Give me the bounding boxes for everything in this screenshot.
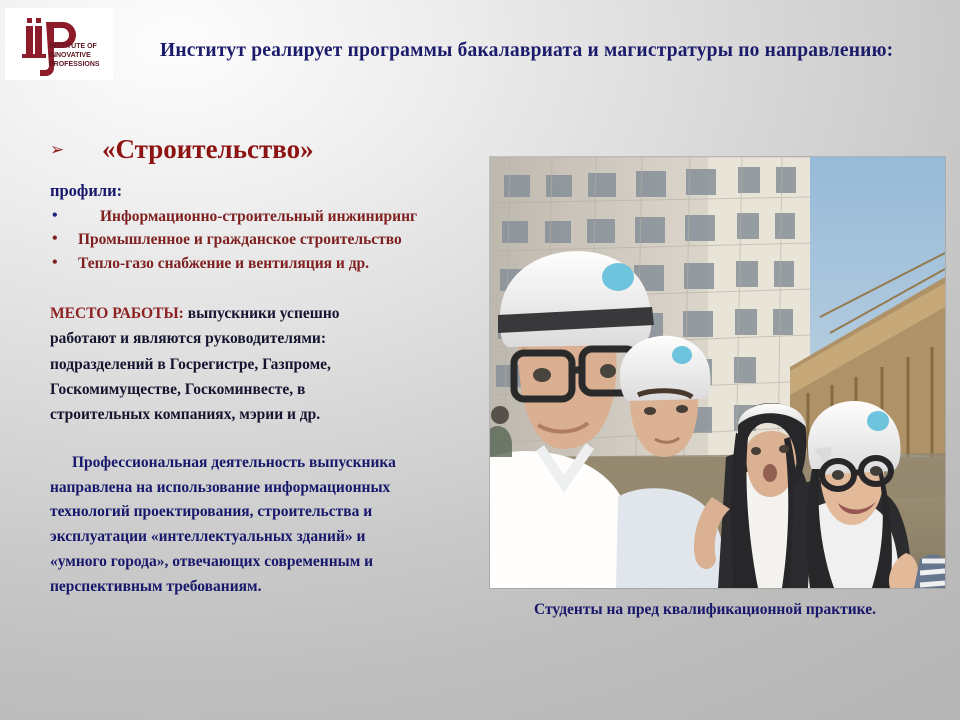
professional-line: эксплуатации «интеллектуальных зданий» и xyxy=(50,525,476,550)
logo-graphic: INSTITUTE OF INNOVATIVE PROFESSIONS xyxy=(5,8,113,80)
bullet-dot-icon: • xyxy=(52,204,58,228)
photo-illustration xyxy=(490,157,945,588)
professional-line: перспективным требованиям. xyxy=(50,575,476,600)
students-practice-photo xyxy=(490,157,945,588)
professional-line: Профессиональная деятельность выпускника xyxy=(50,451,476,476)
work-place-line-text: выпускники успешно xyxy=(184,305,340,322)
photo-caption: Студенты на пред квалификационной практи… xyxy=(470,601,940,619)
program-heading: ➢ «Строительство» xyxy=(46,135,476,165)
logo-line-1: INSTITUTE OF xyxy=(49,43,98,50)
list-item-label: Тепло-газо снабжение и вентиляция и др. xyxy=(78,255,369,272)
slide-canvas: INSTITUTE OF INNOVATIVE PROFESSIONS Инст… xyxy=(0,0,960,720)
list-item: • Промышленное и гражданское строительст… xyxy=(48,228,476,252)
profiles-list: • Информационно-строительный инжиниринг … xyxy=(48,205,476,276)
professional-line: технологий проектирования, строительства… xyxy=(50,500,476,525)
professional-activity-paragraph: Профессиональная деятельность выпускника… xyxy=(50,451,476,600)
slide-header-title: Институт реалирует программы бакалавриат… xyxy=(160,40,950,62)
institute-logo: INSTITUTE OF INNOVATIVE PROFESSIONS xyxy=(5,8,113,80)
work-place-line: подразделений в Госрегистре, Газпроме, xyxy=(50,352,476,377)
work-place-line: МЕСТО РАБОТЫ: выпускники успешно xyxy=(50,301,476,326)
bullet-dot-icon: • xyxy=(52,227,58,251)
professional-line: «умного города», отвечающих современным … xyxy=(50,550,476,575)
work-place-line: работают и являются руководителями: xyxy=(50,326,476,351)
list-item-label: Информационно-строительный инжиниринг xyxy=(78,208,417,225)
list-item: • Информационно-строительный инжиниринг xyxy=(48,205,476,229)
logo-line-3: PROFESSIONS xyxy=(49,61,100,68)
profiles-label: профили: xyxy=(50,181,476,201)
work-place-line: Госкомимуществе, Госкоминвесте, в xyxy=(50,377,476,402)
logo-line-2: INNOVATIVE xyxy=(49,52,91,59)
content-column-left: ➢ «Строительство» профили: • Информацион… xyxy=(46,135,476,600)
list-item-label: Промышленное и гражданское строительство xyxy=(78,231,402,248)
professional-line: направлена на использование информационн… xyxy=(50,476,476,501)
work-place-line: строительных компаниях, мэрии и др. xyxy=(50,402,476,427)
arrow-bullet-icon: ➢ xyxy=(46,141,102,158)
work-place-lead: МЕСТО РАБОТЫ: xyxy=(50,305,184,322)
list-item: • Тепло-газо снабжение и вентиляция и др… xyxy=(48,252,476,276)
work-place-paragraph: МЕСТО РАБОТЫ: выпускники успешно работаю… xyxy=(50,301,476,427)
bullet-dot-icon: • xyxy=(52,251,58,275)
program-title: «Строительство» xyxy=(102,135,314,165)
